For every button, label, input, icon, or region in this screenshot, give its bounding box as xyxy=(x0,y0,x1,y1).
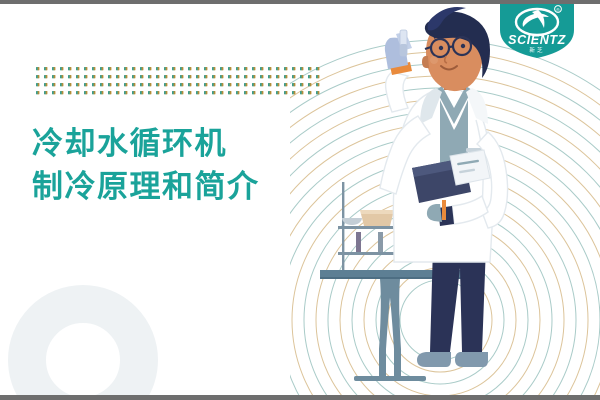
logo-wordmark: SCIENTZ xyxy=(508,33,566,47)
logo-subtext: 新芝 xyxy=(529,46,544,54)
title-line-2: 制冷原理和简介 xyxy=(32,165,260,208)
poster-canvas: 冷却水循环机 制冷原理和简介 ® SCIENTZ 新芝 xyxy=(0,0,600,400)
scientist-illustration xyxy=(300,0,600,400)
page-title: 冷却水循环机 制冷原理和简介 xyxy=(32,122,260,208)
window-chrome-top-bar xyxy=(0,0,600,4)
dot-grid-decoration xyxy=(36,66,324,98)
scientz-logo[interactable]: ® SCIENTZ 新芝 xyxy=(496,0,578,60)
window-chrome-bottom-bar xyxy=(0,395,600,400)
pale-ring-shape xyxy=(8,285,158,400)
title-line-1: 冷却水循环机 xyxy=(32,122,260,165)
